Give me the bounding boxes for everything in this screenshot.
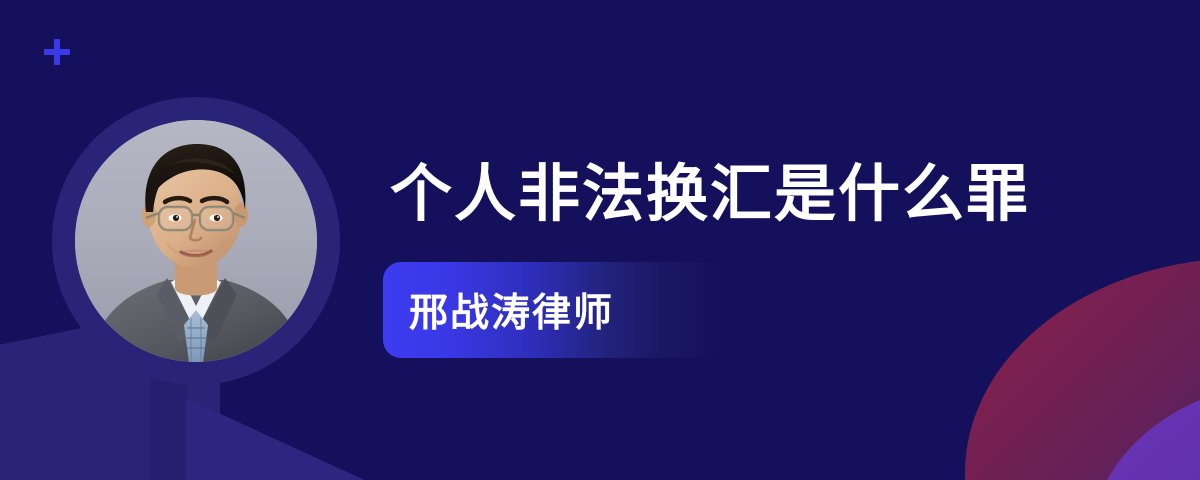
author-badge[interactable]: 邢战涛律师 xyxy=(383,262,723,358)
author-name: 邢战涛律师 xyxy=(409,282,614,338)
banner-canvas: 个人非法换汇是什么罪 邢战涛律师 xyxy=(0,0,1200,480)
page-title: 个人非法换汇是什么罪 xyxy=(390,160,1030,228)
plus-icon xyxy=(44,39,70,65)
avatar xyxy=(75,120,317,362)
